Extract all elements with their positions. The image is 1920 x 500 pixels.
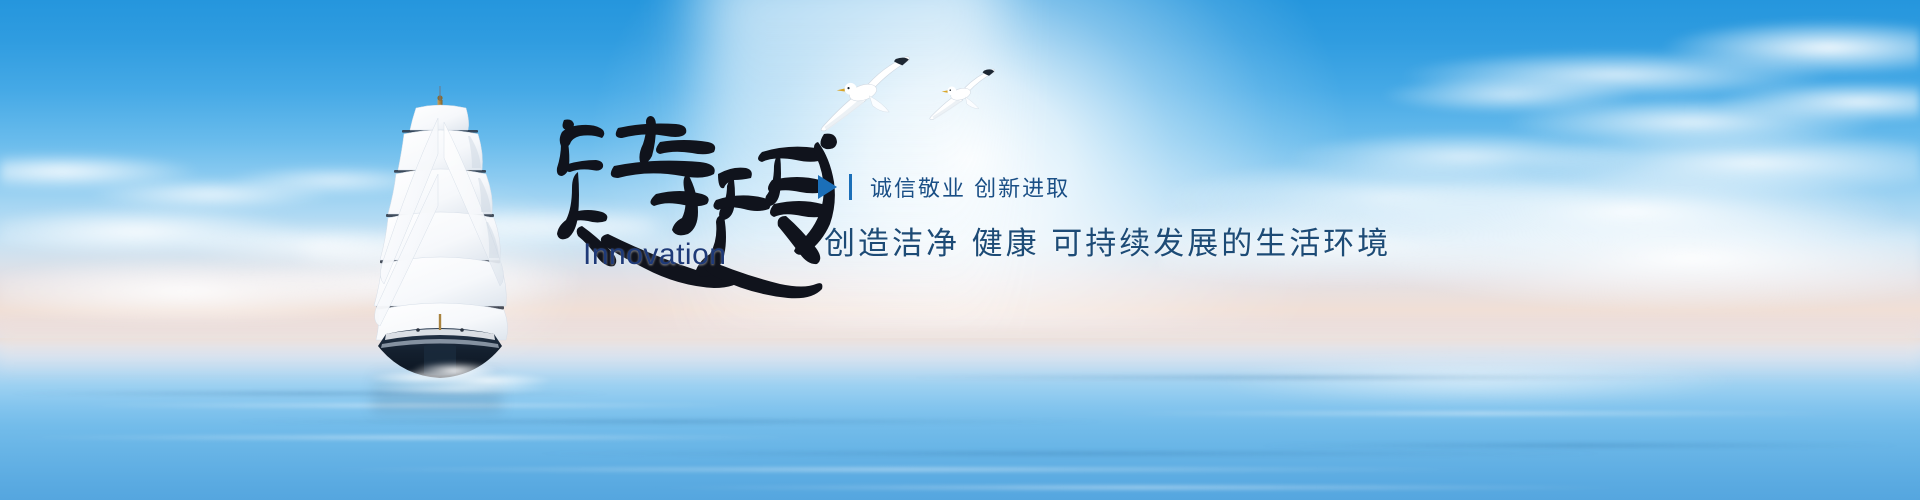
slogan-row-primary: 诚信敬业 创新进取 bbox=[818, 170, 1458, 204]
sea-ripple bbox=[300, 468, 1500, 471]
slogan-block: 诚信敬业 创新进取 创造洁净 健康 可持续发展的生活环境 bbox=[818, 170, 1458, 263]
sea-ripple bbox=[0, 436, 820, 439]
sea-ripple bbox=[640, 486, 1640, 489]
slogan-line-1: 诚信敬业 创新进取 bbox=[870, 171, 1070, 203]
sea-ripple bbox=[60, 404, 760, 407]
sea-ripple bbox=[900, 376, 1700, 379]
divider-bar-icon bbox=[849, 174, 852, 200]
play-triangle-icon bbox=[818, 175, 837, 199]
sea-ripple bbox=[220, 420, 1120, 423]
innovation-subtitle: Innovation bbox=[583, 238, 726, 272]
sea-ripple bbox=[0, 392, 620, 395]
sea-ripple bbox=[1100, 412, 1860, 415]
sea-ripple bbox=[520, 452, 1620, 455]
sailing-ship bbox=[352, 78, 528, 378]
seagull-small bbox=[927, 69, 998, 120]
calligraphy-char-yue bbox=[696, 134, 837, 299]
calligraphy-kuayue bbox=[548, 108, 838, 303]
sea-ripple bbox=[1250, 444, 1910, 447]
slogan-line-2: 创造洁净 健康 可持续发展的生活环境 bbox=[824, 218, 1458, 263]
hero-banner: Innovation 诚信敬业 创新进取 创造洁净 健康 可持续发展的生活环境 bbox=[0, 0, 1920, 500]
